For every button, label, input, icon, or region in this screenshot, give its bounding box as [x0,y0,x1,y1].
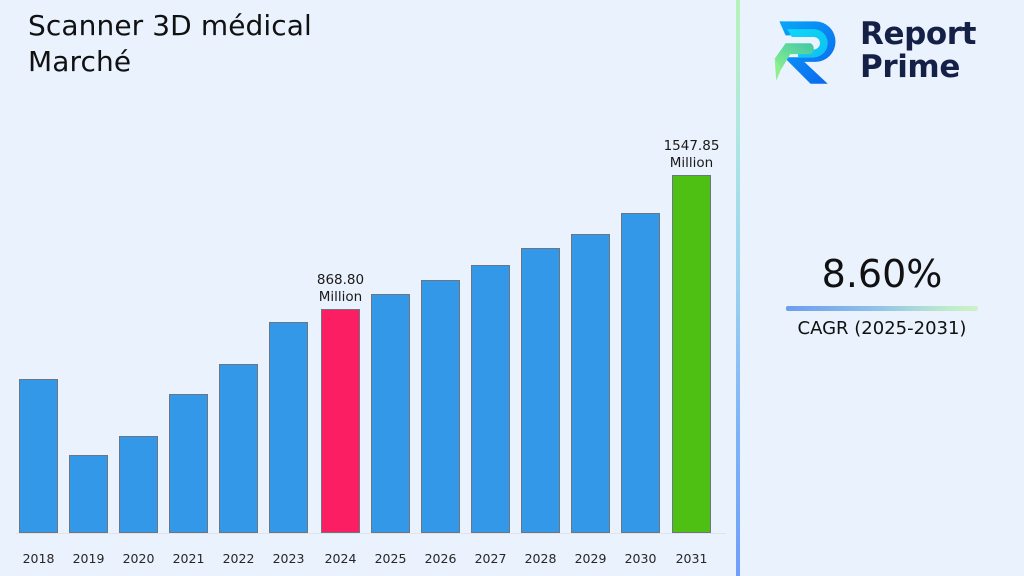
x-axis-tick-label: 2024 [325,551,357,566]
bar[interactable] [269,322,308,533]
x-axis-tick-label: 2021 [173,551,205,566]
x-axis-tick-label: 2022 [223,551,255,566]
bar-group: 2018 [19,379,58,533]
bar-group: 2026 [421,280,460,533]
x-axis-tick-label: 2026 [425,551,457,566]
x-axis-tick-label: 2029 [575,551,607,566]
x-axis-tick-label: 2019 [73,551,105,566]
bar[interactable] [672,175,711,533]
report-prime-r-mark-icon [770,12,848,90]
report-prime-wordmark: Report Prime [860,18,976,84]
bar-group: 2021 [169,394,208,533]
branding-panel: Report Prime 8.60% CAGR (2025-2031) [740,0,1024,576]
x-axis-tick-label: 2020 [123,551,155,566]
x-axis-tick-label: 2018 [23,551,55,566]
bar[interactable] [169,394,208,533]
bar-group: 868.80 Million2024 [321,309,360,533]
bar[interactable] [521,248,560,533]
bar-group: 2027 [471,265,510,533]
x-axis-tick-label: 2030 [625,551,657,566]
bar[interactable] [219,364,258,533]
bar[interactable] [321,309,360,533]
x-axis-tick-label: 2025 [375,551,407,566]
bar[interactable] [119,436,158,533]
bar[interactable] [19,379,58,533]
bar[interactable] [471,265,510,533]
report-prime-logo[interactable]: Report Prime [770,12,976,90]
bar-group: 2025 [371,294,410,533]
bar-chart-plot: 201820192020202120222023868.80 Million20… [0,0,737,576]
cagr-caption: CAGR (2025-2031) [740,317,1024,341]
x-axis-line [16,533,726,534]
bar-group: 2029 [571,234,610,533]
bar-value-label: 1547.85 Million [632,138,752,171]
bar-group: 2028 [521,248,560,533]
bar[interactable] [371,294,410,533]
bar[interactable] [69,455,108,533]
bar-group: 2030 [621,213,660,533]
bar-group: 2020 [119,436,158,533]
bar-group: 1547.85 Million2031 [672,175,711,533]
bar-group: 2019 [69,455,108,533]
x-axis-tick-label: 2031 [676,551,708,566]
bar[interactable] [621,213,660,533]
chart-panel: Scanner 3D médical Marché 20182019202020… [0,0,737,576]
cagr-value: 8.60% [740,252,1024,296]
x-axis-tick-label: 2023 [273,551,305,566]
cagr-divider-rule [786,306,978,311]
x-axis-tick-label: 2027 [475,551,507,566]
x-axis-tick-label: 2028 [525,551,557,566]
bar[interactable] [571,234,610,533]
bar-group: 2022 [219,364,258,533]
cagr-callout: 8.60% CAGR (2025-2031) [740,252,1024,341]
bar[interactable] [421,280,460,533]
bar-group: 2023 [269,322,308,533]
